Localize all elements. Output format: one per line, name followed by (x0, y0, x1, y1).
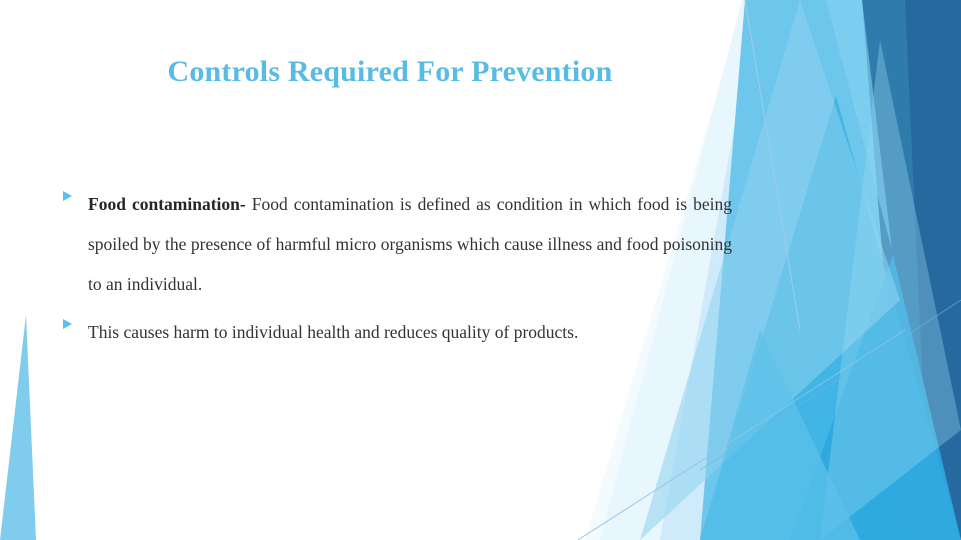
bright-sliver-shape (826, 0, 892, 250)
bullet-paragraph: This causes harm to individual health an… (88, 312, 732, 352)
translucent-right-triangle-shape (820, 40, 961, 540)
hairline-inner-diagonal (700, 300, 961, 470)
slide-canvas: Controls Required For Prevention Food co… (0, 0, 961, 540)
bullet-lead-term: Food contamination- (88, 194, 246, 214)
hairline-top-diagonal (745, 0, 800, 330)
cyan-narrow-triangle-shape (790, 255, 961, 540)
cyan-rising-triangle-shape (700, 96, 961, 540)
page-title: Controls Required For Prevention (0, 52, 780, 92)
bullet-body-text: This causes harm to individual health an… (88, 322, 578, 342)
list-item: Food contamination- Food contamination i… (60, 184, 732, 304)
triangle-right-bullet-icon (63, 191, 72, 201)
triangle-right-bullet-icon (63, 319, 72, 329)
bullet-paragraph: Food contamination- Food contamination i… (88, 184, 732, 304)
slide-body: Food contamination- Food contamination i… (60, 184, 732, 360)
left-spike-shape (0, 315, 36, 540)
list-item: This causes harm to individual health an… (60, 312, 732, 352)
deep-blue-right-edge-shape (905, 0, 961, 540)
lower-left-wedge-shape (700, 330, 860, 540)
hairline-long-diagonal (578, 330, 905, 540)
deep-blue-right-band-shape (862, 0, 961, 540)
